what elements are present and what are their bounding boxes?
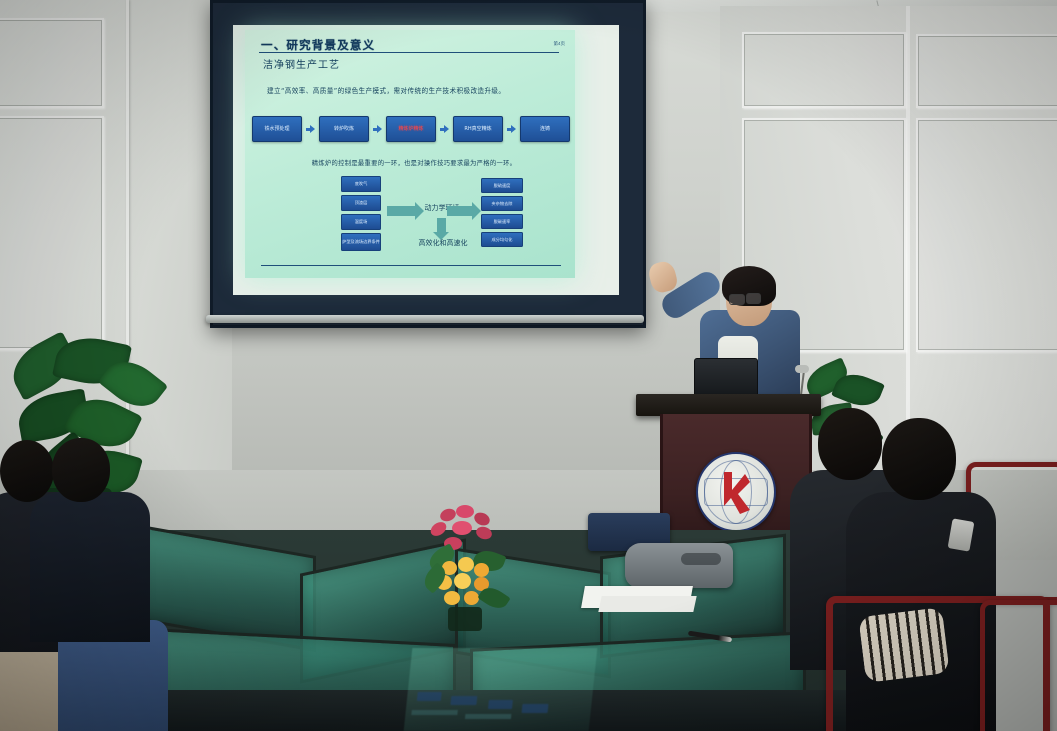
wall-molding-frame bbox=[916, 118, 1057, 352]
slide-content: 一、研究背景及意义 第4页 洁净钢生产工艺 建立“高效率、高质量”的绿色生产模式… bbox=[245, 30, 575, 278]
flow-arrow-icon bbox=[507, 125, 516, 134]
flow-step-box: RH真空精炼 bbox=[453, 116, 503, 142]
red-chair[interactable] bbox=[980, 600, 1057, 731]
flow-arrow-icon bbox=[440, 125, 449, 134]
audience-head bbox=[882, 418, 956, 500]
diagram-box: 炉型及流场边界条件 bbox=[341, 233, 381, 251]
slide-subtitle: 洁净钢生产工艺 bbox=[263, 56, 340, 71]
diagram-box: 顶渣层 bbox=[341, 195, 381, 211]
flow-step-box: 连铸 bbox=[520, 116, 570, 142]
flow-step-box: 精炼炉精炼 bbox=[386, 116, 436, 142]
presentation-photo-scene: 一、研究背景及意义 第4页 洁净钢生产工艺 建立“高效率、高质量”的绿色生产模式… bbox=[0, 0, 1057, 731]
paper-sheets bbox=[598, 596, 696, 612]
process-flow-row: 铁水预处理转炉吹炼精炼炉精炼RH真空精炼连铸 bbox=[265, 114, 557, 144]
glasses-icon bbox=[746, 293, 761, 304]
microphone-icon bbox=[795, 365, 809, 373]
diagram-box: 成分均匀化 bbox=[481, 232, 523, 247]
university-emblem bbox=[696, 452, 776, 532]
slide-note-text: 精炼炉的控制是最重要的一环，也是对操作技巧要求最为严格的一环。 bbox=[275, 158, 553, 167]
diagram-output-column: 脱硫速度夹杂物去除脱碳速率成分均匀化 bbox=[481, 178, 523, 247]
flow-arrow-icon bbox=[373, 125, 382, 134]
gray-backpack[interactable] bbox=[625, 543, 733, 588]
diagram-box: 脱碳速率 bbox=[481, 214, 523, 229]
wall-pilaster bbox=[906, 6, 910, 476]
diagram-box: 脱硫速度 bbox=[481, 178, 523, 193]
audience-head bbox=[0, 440, 54, 502]
diagram-box: 温度场 bbox=[341, 214, 381, 230]
emblem-k-mark bbox=[720, 468, 750, 514]
diagram-input-column: 底吹气顶渣层温度场炉型及流场边界条件 bbox=[341, 176, 381, 251]
diagram-arrow-down bbox=[437, 218, 446, 232]
slide-page-marker: 第4页 bbox=[553, 41, 565, 47]
flower-arrangement bbox=[418, 505, 538, 645]
slide-reflection bbox=[404, 648, 598, 731]
screen-roller-bar bbox=[206, 315, 644, 323]
wall-molding-frame bbox=[742, 32, 906, 108]
wall-molding-frame bbox=[916, 34, 1057, 108]
audience-torso bbox=[30, 492, 150, 642]
slide-body-text: 建立“高效率、高质量”的绿色生产模式，需对传统的生产技术积极改造升级。 bbox=[267, 85, 557, 95]
flow-step-box: 铁水预处理 bbox=[252, 116, 302, 142]
wall-molding-frame bbox=[0, 18, 104, 108]
diagram-box: 底吹气 bbox=[341, 176, 381, 192]
diagram-center-sub-label: 高效化和高速化 bbox=[403, 238, 483, 248]
diagram-arrow-right bbox=[447, 206, 472, 216]
audience-head bbox=[818, 408, 882, 480]
laptop[interactable] bbox=[694, 358, 758, 398]
kinetics-diagram: 底吹气顶渣层温度场炉型及流场边界条件 动力学环境 脱硫速度夹杂物去除脱碳速率成分… bbox=[263, 176, 559, 258]
glasses-icon bbox=[729, 294, 745, 305]
slide-footer-rule bbox=[261, 265, 561, 267]
audience-head bbox=[52, 438, 110, 502]
slide-title: 一、研究背景及意义 bbox=[261, 37, 375, 53]
flow-arrow-icon bbox=[306, 125, 315, 134]
podium-top bbox=[636, 394, 821, 416]
diagram-box: 夹杂物去除 bbox=[481, 196, 523, 211]
slide-title-rule bbox=[259, 52, 559, 53]
wall-molding-frame bbox=[0, 116, 104, 350]
flow-step-box: 转炉吹炼 bbox=[319, 116, 369, 142]
